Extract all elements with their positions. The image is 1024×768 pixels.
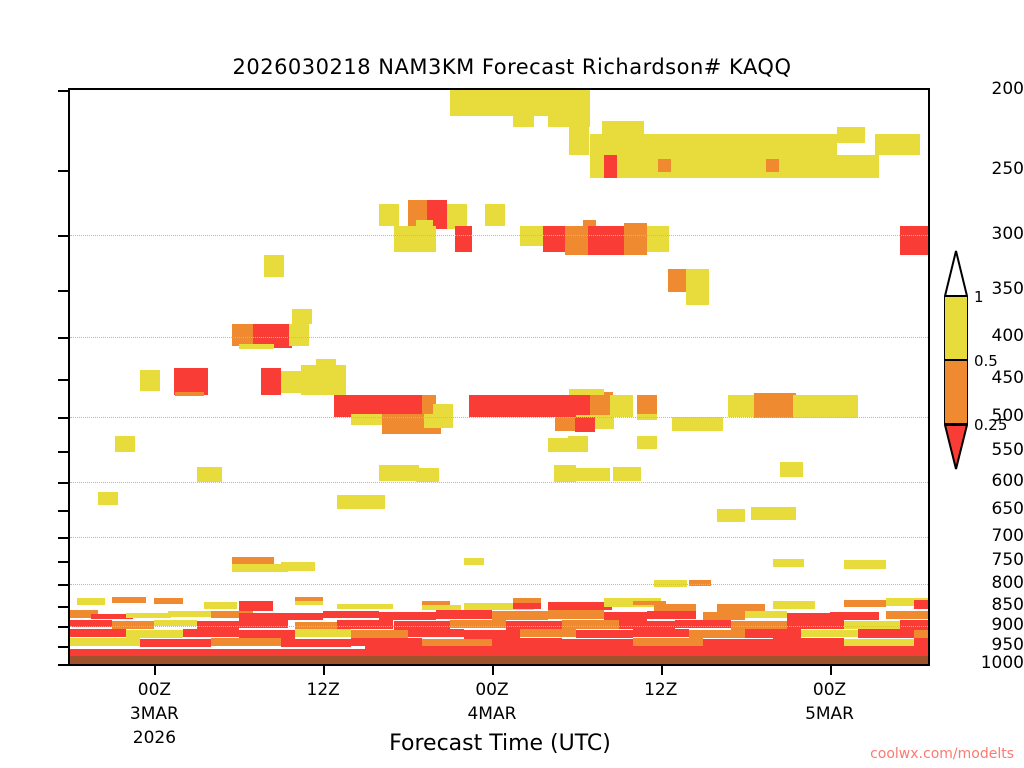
heatmap-cell xyxy=(886,611,928,619)
heatmap-cell xyxy=(115,436,135,452)
y-axis-tick-label: 900 xyxy=(966,617,1024,634)
plot-area xyxy=(68,88,930,666)
y-axis-tick-mark xyxy=(58,646,68,648)
heatmap-cell xyxy=(126,613,171,619)
y-axis-tick-mark xyxy=(58,337,68,339)
y-axis-tick-label: 1000 xyxy=(966,655,1024,672)
heatmap-canvas xyxy=(70,90,928,664)
heatmap-cell xyxy=(379,465,418,481)
heatmap-cell xyxy=(455,226,472,252)
colorbar-upper-arrow xyxy=(944,250,968,296)
colorbar-lower-arrow xyxy=(944,424,968,470)
y-axis-tick-mark xyxy=(58,90,68,92)
heatmap-cell xyxy=(637,436,657,449)
heatmap-cell xyxy=(520,629,576,638)
y-axis-tick-mark xyxy=(58,235,68,237)
y-axis-tick-label: 750 xyxy=(966,552,1024,569)
heatmap-cell xyxy=(337,495,385,510)
y-axis-tick-label: 700 xyxy=(966,528,1024,545)
heatmap-cell xyxy=(394,226,436,252)
y-axis-tick-mark xyxy=(58,510,68,512)
heatmap-cell xyxy=(637,395,657,416)
heatmap-cell xyxy=(295,601,323,605)
x-axis-tick-mark xyxy=(154,666,156,675)
heatmap-cell xyxy=(232,564,288,572)
heatmap-cell xyxy=(513,603,541,610)
heatmap-cell xyxy=(281,613,323,620)
y-axis-tick-mark xyxy=(58,561,68,563)
heatmap-cell xyxy=(469,395,598,417)
gridline xyxy=(70,337,928,339)
x-axis-tick-label: 3MAR xyxy=(94,704,214,724)
heatmap-cell xyxy=(745,629,801,638)
heatmap-cell xyxy=(554,465,577,482)
y-axis-tick-mark xyxy=(58,170,68,172)
heatmap-cell xyxy=(604,155,617,178)
y-axis-tick-mark xyxy=(58,537,68,539)
y-axis-tick-label: 300 xyxy=(966,226,1024,243)
heatmap-cell xyxy=(858,629,914,638)
x-axis-tick-label: 00Z xyxy=(770,680,890,700)
heatmap-cell xyxy=(365,646,928,650)
heatmap-cell xyxy=(575,417,595,432)
heatmap-cell xyxy=(154,598,182,605)
heatmap-cell xyxy=(569,127,589,155)
heatmap-cell xyxy=(576,630,632,639)
heatmap-cell xyxy=(624,223,647,256)
heatmap-cell xyxy=(773,559,804,567)
y-axis-tick-label: 800 xyxy=(966,575,1024,592)
heatmap-cell xyxy=(928,612,930,621)
heatmap-cell xyxy=(295,629,351,638)
heatmap-cell xyxy=(281,639,351,647)
heatmap-cell xyxy=(837,127,865,143)
heatmap-cell xyxy=(492,611,548,620)
heatmap-cell xyxy=(647,611,696,619)
y-axis-tick-mark xyxy=(58,664,68,666)
heatmap-cell xyxy=(492,638,562,646)
y-axis-tick-mark xyxy=(58,606,68,608)
heatmap-cell xyxy=(261,368,281,395)
heatmap-cell xyxy=(793,395,858,418)
gridline xyxy=(70,235,928,237)
terrain-band xyxy=(70,659,928,664)
x-axis-tick-label: 00Z xyxy=(94,680,214,700)
x-axis-tick-label: 12Z xyxy=(263,680,383,700)
colorbar-tick-label: 1 xyxy=(974,290,984,305)
x-axis-tick-mark xyxy=(661,666,663,675)
heatmap-cell xyxy=(633,638,703,646)
colorbar-segment xyxy=(944,360,968,424)
heatmap-cell xyxy=(416,468,439,481)
heatmap-cell xyxy=(337,604,393,608)
y-axis-tick-mark xyxy=(58,451,68,453)
heatmap-cell xyxy=(292,309,312,323)
heatmap-cell xyxy=(914,600,930,608)
x-axis-tick-mark xyxy=(323,666,325,675)
heatmap-cell xyxy=(590,134,836,178)
y-axis-tick-mark xyxy=(58,584,68,586)
heatmap-cell xyxy=(766,159,779,172)
heatmap-cell xyxy=(914,630,930,639)
heatmap-cell xyxy=(773,601,815,609)
heatmap-cell xyxy=(633,629,689,638)
gridline xyxy=(70,584,928,586)
heatmap-cell xyxy=(837,155,879,178)
heatmap-cell xyxy=(450,90,548,116)
heatmap-cell xyxy=(175,392,203,397)
heatmap-cell xyxy=(914,638,930,646)
heatmap-cell xyxy=(351,414,385,425)
y-axis-tick-mark xyxy=(58,417,68,419)
heatmap-cell xyxy=(112,597,146,603)
credit-watermark: coolwx.com/modelts xyxy=(870,746,1014,762)
heatmap-cell xyxy=(568,436,588,452)
heatmap-cell xyxy=(204,602,238,610)
heatmap-cell xyxy=(703,612,745,620)
heatmap-cell xyxy=(264,255,284,277)
heatmap-cell xyxy=(77,598,105,605)
x-axis-tick-label: 2026 xyxy=(94,728,214,748)
heatmap-cell xyxy=(408,629,464,638)
heatmap-cell xyxy=(485,204,505,227)
heatmap-cell xyxy=(70,629,126,638)
heatmap-cell xyxy=(239,601,273,611)
heatmap-cell xyxy=(844,600,886,607)
heatmap-cell xyxy=(900,226,930,255)
x-axis-tick-mark xyxy=(830,666,832,675)
heatmap-cell xyxy=(351,630,407,639)
y-axis-tick-mark xyxy=(58,482,68,484)
heatmap-cell xyxy=(745,611,787,618)
heatmap-cell xyxy=(751,507,796,520)
heatmap-cell xyxy=(126,630,182,639)
colorbar-legend: 10.50.25 xyxy=(944,296,968,472)
heatmap-cell xyxy=(548,610,604,619)
heatmap-cell xyxy=(70,638,140,646)
heatmap-cell xyxy=(602,121,644,134)
heatmap-cell xyxy=(588,226,625,255)
heatmap-cell xyxy=(672,417,723,431)
colorbar-segment xyxy=(944,296,968,360)
heatmap-cell xyxy=(183,629,239,637)
heatmap-cell xyxy=(140,639,210,647)
heatmap-cell xyxy=(728,395,756,417)
y-axis-tick-label: 250 xyxy=(966,161,1024,178)
heatmap-cell xyxy=(875,134,920,155)
gridline xyxy=(70,482,928,484)
heatmap-cell xyxy=(754,393,796,418)
heatmap-cell xyxy=(543,226,566,252)
gridline xyxy=(70,417,928,419)
heatmap-cell xyxy=(379,612,435,620)
heatmap-cell xyxy=(569,389,604,395)
heatmap-cell xyxy=(555,417,575,431)
heatmap-cell xyxy=(610,395,633,417)
heatmap-cell xyxy=(289,324,309,346)
x-axis-title: Forecast Time (UTC) xyxy=(250,731,750,756)
gridline xyxy=(70,626,928,628)
y-axis-tick-mark xyxy=(58,290,68,292)
heatmap-cell xyxy=(844,560,886,568)
y-axis-tick-label: 450 xyxy=(966,370,1024,387)
heatmap-cell xyxy=(548,602,611,610)
y-axis-tick-label: 400 xyxy=(966,328,1024,345)
heatmap-cell xyxy=(436,610,492,619)
y-axis-tick-label: 200 xyxy=(966,81,1024,98)
y-axis-tick-label: 850 xyxy=(966,597,1024,614)
heatmap-cell xyxy=(773,638,843,646)
heatmap-cell xyxy=(513,116,534,127)
heatmap-cell xyxy=(379,204,399,227)
heatmap-cell xyxy=(613,467,641,481)
heatmap-cell xyxy=(658,159,671,172)
heatmap-cell xyxy=(686,269,709,305)
heatmap-cell xyxy=(548,90,590,127)
y-axis-tick-label: 950 xyxy=(966,637,1024,654)
heatmap-cell xyxy=(668,269,688,292)
colorbar-tick-label: 0.25 xyxy=(974,418,1007,433)
heatmap-cell xyxy=(211,638,281,646)
heatmap-cell xyxy=(647,226,670,252)
heatmap-cell xyxy=(140,370,160,391)
heatmap-cell xyxy=(239,344,274,349)
heatmap-cell xyxy=(447,204,467,229)
y-axis-tick-mark xyxy=(58,379,68,381)
heatmap-cell xyxy=(301,365,346,395)
heatmap-cell xyxy=(281,562,315,570)
heatmap-cell xyxy=(351,638,421,646)
heatmap-cell xyxy=(801,630,857,638)
page-title: 2026030218 NAM3KM Forecast Richardson# K… xyxy=(0,55,1024,79)
heatmap-cell xyxy=(323,611,379,618)
colorbar-tick-label: 0.5 xyxy=(974,354,998,369)
heatmap-cell xyxy=(780,462,803,477)
x-axis-tick-label: 12Z xyxy=(601,680,721,700)
heatmap-cell xyxy=(232,324,253,346)
heatmap-cell xyxy=(576,468,610,480)
heatmap-cell xyxy=(830,612,879,620)
x-axis-tick-mark xyxy=(492,666,494,675)
heatmap-cell xyxy=(689,630,745,639)
gridline xyxy=(70,537,928,539)
heatmap-cell xyxy=(717,509,745,522)
heatmap-cell xyxy=(98,492,118,504)
heatmap-cell xyxy=(197,467,222,482)
y-axis-tick-label: 650 xyxy=(966,501,1024,518)
y-axis-tick-label: 550 xyxy=(966,442,1024,459)
heatmap-cell xyxy=(565,226,588,255)
heatmap-cell xyxy=(464,558,484,566)
x-axis-tick-label: 5MAR xyxy=(770,704,890,724)
x-axis-tick-label: 00Z xyxy=(432,680,552,700)
chart-page: 2026030218 NAM3KM Forecast Richardson# K… xyxy=(0,0,1024,768)
heatmap-cell xyxy=(416,220,433,226)
x-axis-tick-label: 4MAR xyxy=(432,704,552,724)
gridline xyxy=(70,664,928,666)
y-axis-tick-mark xyxy=(58,626,68,628)
y-axis-tick-label: 600 xyxy=(966,473,1024,490)
